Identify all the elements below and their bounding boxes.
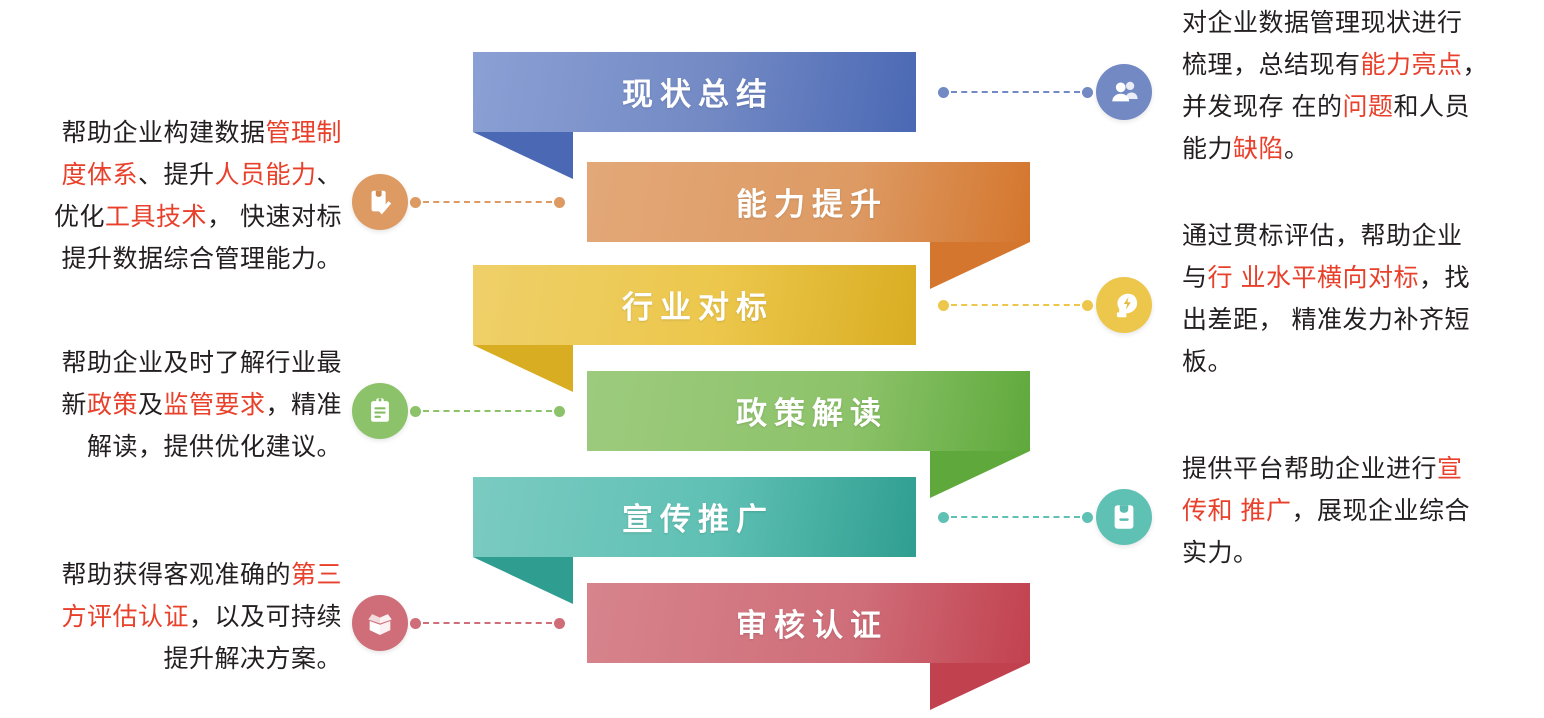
- body-text: 、提升: [138, 161, 215, 189]
- connector-dot: [1082, 300, 1093, 311]
- badge-card-icon: [1109, 502, 1139, 532]
- connector-dot: [410, 618, 421, 629]
- open-box-icon: [365, 608, 395, 638]
- connector-dash: [423, 201, 552, 203]
- connector-line-step-4: [410, 405, 565, 417]
- connector-dot: [554, 406, 565, 417]
- highlight-text: 能力亮点: [1361, 51, 1463, 79]
- connector-dot: [938, 87, 949, 98]
- users-icon: [1109, 77, 1139, 107]
- ribbon-label: 现状总结: [615, 69, 774, 114]
- highlight-text: 监管要求: [163, 391, 265, 419]
- connector-line-step-2: [410, 196, 565, 208]
- highlight-text: 工具技术: [105, 203, 207, 231]
- body-text: 帮助获得客观准确的: [61, 561, 291, 589]
- ribbon-label: 行业对标: [615, 282, 774, 327]
- ribbon-step-1[interactable]: 现状总结: [473, 52, 916, 132]
- ribbon-label: 能力提升: [729, 179, 888, 224]
- ribbon-fold-tail: [473, 132, 573, 179]
- infographic-canvas: 现状总结对企业数据管理现状进行 梳理，总结现有能力亮点， 并发现存 在的问题和人…: [0, 0, 1544, 718]
- connector-line-step-6: [410, 617, 565, 629]
- body-text: 提供平台帮助企业进行: [1182, 455, 1437, 483]
- ribbon-bar: 行业对标: [473, 265, 916, 345]
- highlight-text: 行 业水平横向对标: [1208, 264, 1419, 292]
- connector-dash: [951, 516, 1080, 518]
- description-step-2: 帮助企业构建数据管理制 度体系、提升人员能力、 优化工具技术， 快速对标 提升数…: [12, 112, 342, 280]
- description-step-1: 对企业数据管理现状进行 梳理，总结现有能力亮点， 并发现存 在的问题和人员 能力…: [1182, 2, 1532, 170]
- connector-dot: [554, 618, 565, 629]
- connector-dot: [1082, 87, 1093, 98]
- ribbon-fold-tail: [930, 663, 1030, 710]
- highlight-text: 缺陷: [1233, 135, 1284, 163]
- ribbon-bar: 政策解读: [587, 371, 1030, 451]
- ribbon-step-4[interactable]: 政策解读: [587, 371, 1030, 451]
- ribbon-bar: 审核认证: [587, 583, 1030, 663]
- body-text: 帮助企业构建数据: [61, 119, 265, 147]
- connector-dot: [410, 197, 421, 208]
- badge-users-icon[interactable]: [1096, 64, 1152, 120]
- description-step-6: 帮助获得客观准确的第三 方评估认证，以及可持续 提升解决方案。: [12, 554, 342, 680]
- ribbon-label: 宣传推广: [615, 494, 774, 539]
- connector-dash: [951, 304, 1080, 306]
- connector-dot: [1082, 512, 1093, 523]
- connector-dash: [951, 91, 1080, 93]
- description-step-3: 通过贯标评估，帮助企业 与行 业水平横向对标，找 出差距， 精准发力补齐短 板。: [1182, 215, 1532, 383]
- ribbon-step-2[interactable]: 能力提升: [587, 162, 1030, 242]
- ribbon-step-3[interactable]: 行业对标: [473, 265, 916, 345]
- connector-line-step-3: [938, 299, 1093, 311]
- ribbon-label: 政策解读: [729, 388, 888, 433]
- highlight-text: 问题: [1342, 93, 1393, 121]
- badge-open-box-icon[interactable]: [352, 595, 408, 651]
- ribbon-fold-tail: [473, 557, 573, 604]
- ribbon-bar: 宣传推广: [473, 477, 916, 557]
- badge-badge-card-icon[interactable]: [1096, 489, 1152, 545]
- badge-checklist-document-icon[interactable]: [352, 174, 408, 230]
- badge-head-idea-icon[interactable]: [1096, 277, 1152, 333]
- ribbon-step-6[interactable]: 审核认证: [587, 583, 1030, 663]
- ribbon-label: 审核认证: [729, 600, 888, 645]
- connector-line-step-1: [938, 86, 1093, 98]
- ribbon-bar: 能力提升: [587, 162, 1030, 242]
- ribbon-step-5[interactable]: 宣传推广: [473, 477, 916, 557]
- body-text: ，以及可持续 提升解决方案。: [163, 603, 342, 673]
- description-step-5: 提供平台帮助企业进行宣 传和 推广，展现企业综合 实力。: [1182, 448, 1532, 574]
- connector-dot: [938, 300, 949, 311]
- connector-dash: [423, 622, 552, 624]
- body-text: 及: [138, 391, 164, 419]
- ribbon-fold-tail: [473, 345, 573, 392]
- highlight-text: 政策: [87, 391, 138, 419]
- badge-clipboard-icon[interactable]: [352, 383, 408, 439]
- ribbon-fold-tail: [930, 451, 1030, 498]
- ribbon-fold-tail: [930, 242, 1030, 289]
- connector-dash: [423, 410, 552, 412]
- connector-dot: [938, 512, 949, 523]
- checklist-document-icon: [365, 187, 395, 217]
- connector-dot: [554, 197, 565, 208]
- highlight-text: 人员能力: [214, 161, 316, 189]
- body-text: 。: [1284, 135, 1310, 163]
- head-idea-icon: [1109, 290, 1139, 320]
- connector-dot: [410, 406, 421, 417]
- description-step-4: 帮助企业及时了解行业最 新政策及监管要求，精准 解读，提供优化建议。: [12, 342, 342, 468]
- ribbon-bar: 现状总结: [473, 52, 916, 132]
- clipboard-icon: [365, 396, 395, 426]
- connector-line-step-5: [938, 511, 1093, 523]
